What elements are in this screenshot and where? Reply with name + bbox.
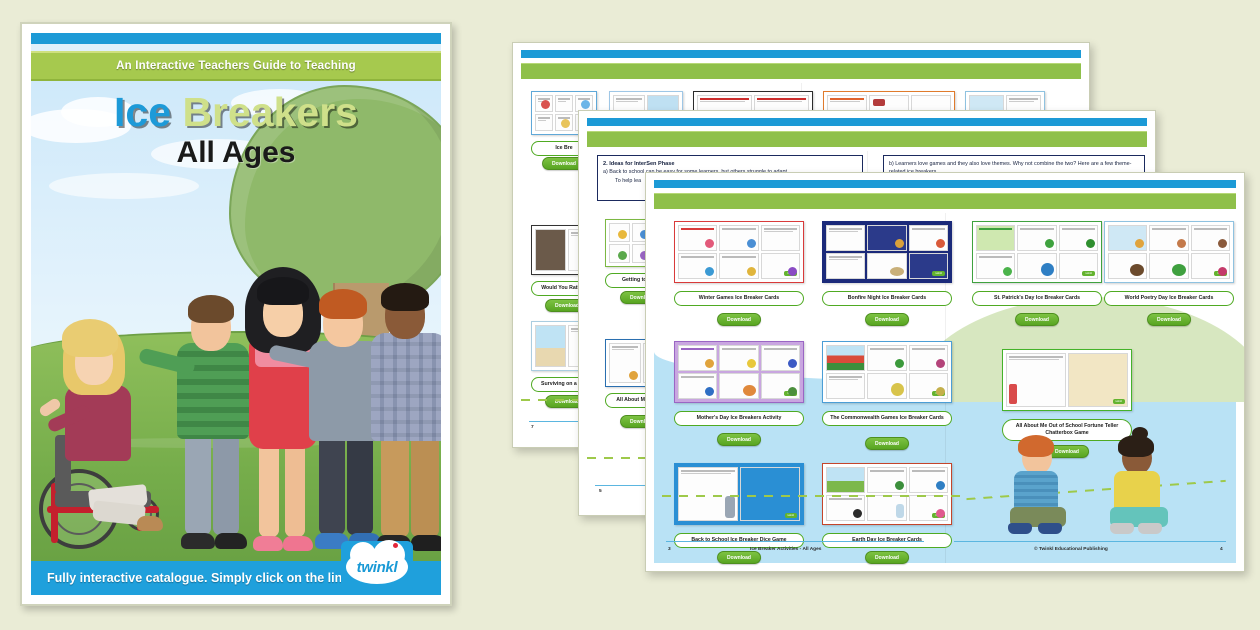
thumb-page [1017,253,1056,279]
hair [188,295,234,323]
thumb-page [826,345,865,371]
spread-top-bar [521,50,1081,58]
person-check-shirt-boy [355,217,441,553]
shoe [1038,523,1062,534]
download-button[interactable]: Download [1147,313,1191,326]
thumb-page [535,114,553,131]
hair [1018,435,1054,457]
leg [381,431,409,537]
title-word-ice: Ice [114,89,171,135]
thumb-page [1006,353,1066,407]
thumb-page [678,345,717,371]
twinkl-logo[interactable]: twinkl [341,541,413,593]
thumb-page [867,373,906,399]
thumb-page: twinkl [1059,253,1098,279]
hair-bun [1132,427,1148,440]
download-button[interactable]: Download [717,313,761,326]
download-button[interactable]: Download [717,551,761,564]
thumb-page: twinkl [761,373,800,399]
thumb-page: twinkl [1191,253,1230,279]
thumb-page [761,225,800,251]
shoe [1110,523,1134,534]
thumb-page [909,225,948,251]
thumb-page [867,345,906,371]
thumb-page: twinkl [909,253,948,279]
spread-front[interactable]: twinkl Winter Games Ice Breaker Cards Do… [645,172,1245,572]
thumb-page [535,95,553,112]
intro-heading: 2. Ideas for InterSen Phase [603,161,675,167]
thumb-page [719,345,758,371]
thumb-page [826,253,865,279]
spread-green-band [654,193,1236,209]
leg [411,431,439,537]
document-title-footer: Ice Breaker Activities - All Ages [750,547,821,552]
thumb-page [678,253,717,279]
thumb-page [761,345,800,371]
thumb-page [1108,253,1147,279]
thumb-page [719,253,758,279]
spread-green-band [521,63,1081,79]
page-number: 7 [531,425,534,430]
thumb-page [1059,225,1098,251]
logo-dot-icon [393,543,398,548]
thumb-page: twinkl [909,373,948,399]
thumb-page [555,114,573,131]
hair [381,283,429,311]
resource-label: The Commonwealth Games Ice Breaker Cards [822,411,952,426]
torso [1014,471,1058,511]
thumb-badge: twinkl [1082,271,1095,276]
resource-label: Winter Games Ice Breaker Cards [674,291,804,306]
thumb-page [867,225,906,251]
cover-inner: Ice Breakers All Ages [31,33,441,595]
cover-top-blue-bar [31,33,441,44]
download-button[interactable]: Download [717,433,761,446]
cover-eyebrow-band: An Interactive Teachers Guide to Teachin… [31,51,441,81]
thumb-page [555,95,573,112]
cover-preview[interactable]: Ice Breakers All Ages [20,22,452,606]
cover-subtitle: All Ages [31,136,441,170]
copyright-footer: © Twinkl Educational Publishing [1034,547,1108,552]
thumb-page [678,373,717,399]
spread-green-band [587,131,1147,147]
thumb-page [976,225,1015,251]
download-button[interactable]: Download [865,551,909,564]
resource-thumbnail: twinkl [674,341,804,403]
torso [1114,471,1160,511]
leg [319,435,345,535]
spread-body: twinkl Winter Games Ice Breaker Cards Do… [654,213,1236,563]
shoe [253,536,283,551]
resource-label: Mother's Day Ice Breakers Activity [674,411,804,426]
cover-banner-text: Fully interactive catalogue. Simply clic… [31,571,360,585]
title-word-breakers: Breakers [182,89,358,135]
thumb-page [909,467,948,493]
download-button[interactable]: Download [1015,313,1059,326]
cover-illustration [37,171,441,561]
thumb-page [867,495,906,521]
shoe [137,516,163,531]
thumb-page [826,225,865,251]
thumb-page [678,225,717,251]
thumb-page [719,373,758,399]
illustration-boy-sitting [1004,435,1084,539]
resource-thumbnail: twinkl [822,341,952,403]
spread-top-bar [587,118,1147,126]
resource-label: Bonfire Night Ice Breaker Cards [822,291,952,306]
thumb-page: twinkl [909,495,948,521]
thumb-page [1149,225,1188,251]
shoe [1008,523,1032,534]
thumb-page [719,225,758,251]
illustration-girl-sitting [1102,431,1186,541]
hair-top [62,319,118,357]
thumb-page [609,223,630,242]
resource-thumbnail: twinkl [1002,349,1132,411]
resource-label: St. Patrick's Day Ice Breaker Cards [972,291,1102,306]
thumb-page [535,325,566,367]
thumb-page [826,373,865,399]
thumb-badge: twinkl [785,513,798,518]
thumb-page [535,229,566,271]
thumb-page [1149,253,1188,279]
dashed-path [662,495,962,497]
resource-thumbnail: twinkl [674,221,804,283]
thumb-page: twinkl [740,467,800,521]
cover-page: Ice Breakers All Ages [20,22,452,606]
thumb-page [1017,225,1056,251]
page-number: 5 [599,489,602,494]
thumb-page [1108,225,1147,251]
page-number-right: 4 [1220,547,1223,552]
resource-thumbnail: twinkl [822,221,952,283]
thumb-page: twinkl [761,253,800,279]
thumb-page [1191,225,1230,251]
thumb-page [826,467,865,493]
leg [185,431,211,535]
thumb-badge: twinkl [932,271,945,276]
intro-line-b: To help lea [603,177,641,185]
resource-label: World Poetry Day Ice Breaker Cards [1104,291,1234,306]
spread-top-bar [654,180,1236,188]
thumb-page: twinkl [1068,353,1128,407]
thumb-page [826,495,865,521]
shoe [1138,523,1162,534]
resource-thumbnail: twinkl [674,463,804,525]
thumb-page [867,467,906,493]
resource-thumbnail: twinkl [822,463,952,525]
thumb-page [909,345,948,371]
page-number-left: 3 [668,547,671,552]
shoe [411,535,441,551]
footer-rule-right [954,541,1226,542]
torso [371,333,441,441]
shoe [181,533,215,549]
resource-thumbnail: twinkl [972,221,1102,283]
cloud-logo-icon: twinkl [346,550,408,584]
leg [259,445,279,537]
twinkl-wordmark: twinkl [357,559,398,576]
thumb-badge: twinkl [1113,399,1126,404]
footer-rule-left [666,541,924,542]
thumb-page [609,343,641,383]
torso [65,385,131,461]
cover-eyebrow-text: An Interactive Teachers Guide to Teachin… [116,60,356,72]
download-button[interactable]: Download [865,437,909,450]
download-button[interactable]: Download [865,313,909,326]
thumb-page [609,244,630,263]
resource-thumbnail: twinkl [1104,221,1234,283]
thumb-page [867,253,906,279]
cover-title-block: Ice Breakers All Ages [31,91,441,170]
thumb-page [678,467,738,521]
thumb-page [976,253,1015,279]
